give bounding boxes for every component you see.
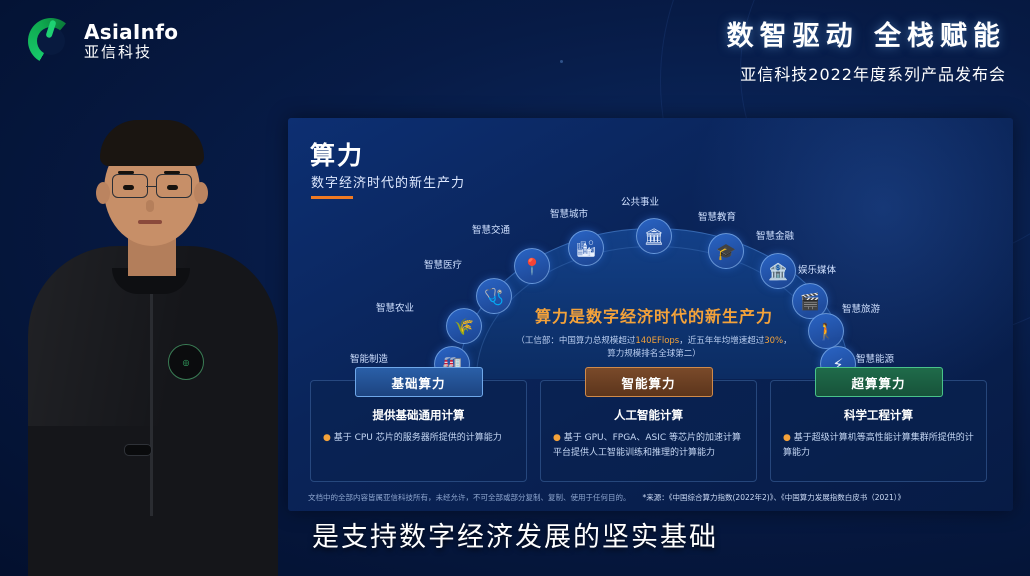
node-label-smart-city: 智慧城市 — [550, 206, 588, 220]
dome-note-stat1: 140EFlops — [635, 336, 679, 346]
presenter-ear-left — [96, 182, 110, 204]
dome-note-part4: 算力规模排名全球第二） — [607, 349, 701, 359]
media-icon: 🎬 — [800, 292, 820, 311]
card-chip-basic: 基础算力 — [355, 367, 483, 397]
presenter-mouth — [138, 220, 162, 224]
bullet-dot: ● — [783, 433, 791, 443]
agriculture-icon: 🌾 — [454, 317, 474, 336]
brand-text: AsiaInfo 亚信科技 — [84, 22, 178, 61]
card-heading-supercompute: 科学工程计算 — [771, 407, 986, 423]
node-label-smart-energy: 智慧能源 — [856, 351, 894, 365]
node-public-utility[interactable]: 🏛 — [636, 218, 672, 254]
node-label-smart-finance: 智慧金融 — [756, 228, 794, 242]
node-label-smart-transport: 智慧交通 — [472, 222, 510, 236]
education-icon: 🎓 — [716, 242, 736, 261]
node-label-smart-manufacturing: 智能制造 — [350, 351, 388, 365]
node-smart-agriculture[interactable]: 🌾 — [446, 308, 482, 344]
node-smart-finance[interactable]: 🏦 — [760, 253, 796, 289]
dome-text-block: 算力是数字经济时代的新生产力 （工信部：中国算力总规模超过140EFlops，近… — [474, 303, 834, 361]
card-bullet-basic: 基于 CPU 芯片的服务器所提供的计算能力 — [334, 433, 502, 443]
brand-name-en: AsiaInfo — [84, 22, 178, 43]
dome-note: （工信部：中国算力总规模超过140EFlops，近五年年均增速超过30%， 算力… — [474, 335, 834, 361]
card-intelligent-compute[interactable]: 智能算力 人工智能计算 ● 基于 GPU、FPGA、ASIC 等芯片的加速计算平… — [540, 380, 757, 482]
jacket-zipper — [150, 286, 153, 516]
subtitle-caption: 是支持数字经济发展的坚实基础 — [0, 515, 1030, 554]
node-label-public-utility: 公共事业 — [621, 194, 659, 208]
slide-subtitle: 数字经济时代的新生产力 — [311, 172, 465, 191]
node-smart-medical[interactable]: 🩺 — [476, 278, 512, 314]
card-bullet-intelligent: 基于 GPU、FPGA、ASIC 等芯片的加速计算平台提供人工智能训练和推理的计… — [553, 433, 741, 458]
bullet-dot: ● — [323, 433, 331, 443]
card-body-intelligent: ● 基于 GPU、FPGA、ASIC 等芯片的加速计算平台提供人工智能训练和推理… — [553, 431, 746, 462]
header-bar: AsiaInfo 亚信科技 数智驱动 全栈赋能 亚信科技2022年度系列产品发布… — [0, 0, 1030, 88]
event-title: 数智驱动 全栈赋能 — [727, 14, 1006, 53]
presenter-nose — [146, 200, 154, 212]
node-label-smart-travel: 智慧旅游 — [842, 301, 880, 315]
dome-note-part3: ， — [783, 336, 792, 346]
card-chip-intelligent: 智能算力 — [585, 367, 713, 397]
card-supercompute[interactable]: 超算算力 科学工程计算 ● 基于超级计算机等高性能计算集群所提供的计算能力 — [770, 380, 987, 482]
node-smart-city[interactable]: 🏙 — [568, 230, 604, 266]
slide-title: 算力 — [310, 136, 364, 172]
glasses-bridge-icon — [146, 186, 156, 188]
node-label-smart-education: 智慧教育 — [698, 209, 736, 223]
disclaimer-text: 文档中的全部内容皆属亚信科技所有，未经允许，不可全部或部分复制、复制、使用于任何… — [308, 492, 631, 503]
video-frame: AsiaInfo 亚信科技 数智驱动 全栈赋能 亚信科技2022年度系列产品发布… — [0, 0, 1030, 576]
city-icon: 🏙 — [576, 239, 596, 258]
jacket-logo-badge: ◎ — [168, 344, 204, 380]
source-text: *来源：《中国综合算力指数(2022年2)》、《中国算力发展指数白皮书（2021… — [643, 492, 906, 503]
dome-note-part2: ，近五年年均增速超过 — [679, 336, 764, 346]
card-bullet-supercompute: 基于超级计算机等高性能计算集群所提供的计算能力 — [783, 433, 974, 458]
title-underline — [311, 196, 353, 199]
finance-icon: 🏦 — [768, 262, 788, 281]
card-heading-intelligent: 人工智能计算 — [541, 407, 756, 423]
medical-icon: 🩺 — [484, 287, 504, 306]
asiainfo-logo-icon — [28, 18, 74, 64]
slide-footnote: 文档中的全部内容皆属亚信科技所有，未经允许，不可全部或部分复制、复制、使用于任何… — [308, 492, 999, 503]
event-subtitle: 亚信科技2022年度系列产品发布会 — [727, 61, 1006, 85]
node-smart-travel[interactable]: 🚶 — [808, 313, 844, 349]
traffic-icon: 📍 — [522, 257, 542, 276]
presenter-eye-right — [167, 185, 178, 190]
dome-note-stat2: 30% — [764, 336, 783, 346]
presenter-ear-right — [194, 182, 208, 204]
presenter-hair — [100, 120, 204, 166]
presentation-slide: 算力 数字经济时代的新生产力 算力是数字经济时代的新生产力 （工信部：中国算力总… — [288, 118, 1013, 511]
card-body-supercompute: ● 基于超级计算机等高性能计算集群所提供的计算能力 — [783, 431, 976, 462]
dome-note-part1: （工信部：中国算力总规模超过 — [516, 336, 635, 346]
node-label-smart-agriculture: 智慧农业 — [376, 300, 414, 314]
card-basic-compute[interactable]: 基础算力 提供基础通用计算 ● 基于 CPU 芯片的服务器所提供的计算能力 — [310, 380, 527, 482]
bullet-dot: ● — [553, 433, 561, 443]
presenter-eye-left — [123, 185, 134, 190]
node-label-entertainment-media: 娱乐媒体 — [798, 262, 836, 276]
travel-icon: 🚶 — [816, 322, 836, 341]
node-smart-education[interactable]: 🎓 — [708, 233, 744, 269]
card-body-basic: ● 基于 CPU 芯片的服务器所提供的计算能力 — [323, 431, 516, 446]
brand-name-cn: 亚信科技 — [84, 45, 178, 61]
card-heading-basic: 提供基础通用计算 — [311, 407, 526, 423]
event-title-block: 数智驱动 全栈赋能 亚信科技2022年度系列产品发布会 — [727, 14, 1006, 85]
dome-headline: 算力是数字经济时代的新生产力 — [474, 303, 834, 327]
asiainfo-badge-icon: ◎ — [183, 358, 190, 367]
node-label-smart-medical: 智慧医疗 — [424, 257, 462, 271]
node-smart-transport[interactable]: 📍 — [514, 248, 550, 284]
handheld-microphone — [124, 444, 152, 456]
presenter-figure: ◎ — [0, 76, 300, 576]
bank-icon: 🏛 — [644, 227, 664, 246]
brand-logo: AsiaInfo 亚信科技 — [28, 18, 178, 64]
card-chip-supercompute: 超算算力 — [815, 367, 943, 397]
